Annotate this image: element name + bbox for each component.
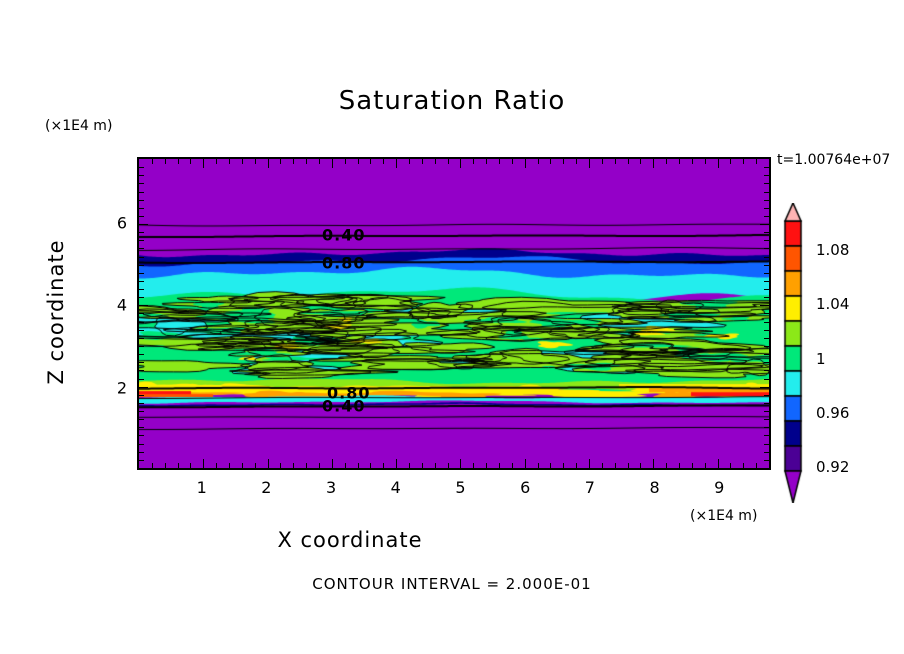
tick-mark: [139, 273, 144, 274]
tick-mark: [139, 322, 144, 323]
tick-mark: [190, 159, 191, 164]
tick-mark: [769, 463, 770, 468]
tick-mark: [764, 273, 769, 274]
x-tick-label: 3: [326, 478, 336, 497]
y-tick-label: 6: [101, 213, 127, 232]
tick-mark: [764, 208, 769, 209]
y-axis-title: Z coordinate: [44, 232, 68, 392]
tick-mark: [764, 354, 769, 355]
tick-mark: [203, 159, 204, 168]
tick-mark: [764, 411, 769, 412]
tick-mark: [448, 159, 449, 164]
tick-mark: [396, 459, 397, 468]
tick-mark: [760, 387, 769, 388]
tick-mark: [512, 463, 513, 468]
tick-mark: [139, 297, 144, 298]
tick-mark: [640, 159, 641, 164]
tick-mark: [139, 379, 144, 380]
tick-mark: [764, 338, 769, 339]
tick-mark: [152, 463, 153, 468]
tick-mark: [255, 463, 256, 468]
tick-mark: [764, 289, 769, 290]
x-tick-label: 8: [649, 478, 659, 497]
tick-mark: [139, 192, 144, 193]
tick-mark: [764, 427, 769, 428]
tick-mark: [152, 159, 153, 164]
tick-mark: [216, 159, 217, 164]
tick-mark: [255, 159, 256, 164]
tick-mark: [370, 463, 371, 468]
tick-mark: [769, 159, 770, 164]
colorbar-tick-label: 1.04: [816, 295, 849, 313]
colorbar-tick-label: 0.92: [816, 458, 849, 476]
tick-mark: [422, 159, 423, 164]
tick-mark: [319, 463, 320, 468]
colorbar-tick-label: 1: [816, 350, 826, 368]
tick-mark: [460, 159, 461, 168]
figure-canvas: Saturation Ratio (×1E4 m) t=1.00764e+07 …: [0, 0, 904, 654]
tick-mark: [764, 452, 769, 453]
tick-mark: [538, 463, 539, 468]
tick-mark: [370, 159, 371, 164]
tick-mark: [602, 463, 603, 468]
tick-mark: [486, 463, 487, 468]
tick-mark: [409, 463, 410, 468]
tick-mark: [139, 216, 144, 217]
tick-mark: [764, 183, 769, 184]
colorbar: [783, 203, 803, 503]
colorbar-tick-label: 0.96: [816, 404, 849, 422]
tick-mark: [139, 313, 144, 314]
tick-mark: [139, 338, 144, 339]
tick-mark: [473, 463, 474, 468]
tick-mark: [679, 463, 680, 468]
tick-mark: [139, 183, 144, 184]
tick-mark: [730, 159, 731, 164]
tick-mark: [319, 159, 320, 164]
tick-mark: [139, 403, 144, 404]
tick-mark: [764, 297, 769, 298]
contour-field: [139, 159, 769, 468]
tick-mark: [139, 362, 144, 363]
x-tick-label: 7: [585, 478, 595, 497]
tick-mark: [139, 232, 144, 233]
tick-mark: [332, 459, 333, 468]
tick-mark: [345, 159, 346, 164]
tick-mark: [764, 370, 769, 371]
tick-mark: [448, 463, 449, 468]
tick-mark: [139, 305, 148, 306]
x-tick-label: 9: [714, 478, 724, 497]
tick-mark: [576, 463, 577, 468]
tick-mark: [743, 463, 744, 468]
tick-mark: [705, 159, 706, 164]
tick-mark: [139, 281, 144, 282]
tick-mark: [139, 419, 144, 420]
tick-mark: [525, 459, 526, 468]
x-tick-label: 5: [455, 478, 465, 497]
tick-mark: [628, 159, 629, 164]
tick-mark: [473, 159, 474, 164]
tick-mark: [293, 463, 294, 468]
tick-mark: [229, 463, 230, 468]
page-title: Saturation Ratio: [0, 86, 904, 116]
tick-mark: [332, 159, 333, 168]
x-tick-label: 4: [391, 478, 401, 497]
tick-mark: [139, 387, 148, 388]
x-tick-label: 1: [197, 478, 207, 497]
tick-mark: [435, 463, 436, 468]
tick-mark: [139, 346, 144, 347]
tick-mark: [764, 248, 769, 249]
tick-mark: [764, 257, 769, 258]
tick-mark: [764, 240, 769, 241]
tick-mark: [764, 346, 769, 347]
tick-mark: [550, 159, 551, 164]
tick-mark: [293, 159, 294, 164]
tick-mark: [628, 463, 629, 468]
tick-mark: [345, 463, 346, 468]
tick-mark: [165, 463, 166, 468]
tick-mark: [486, 159, 487, 164]
tick-mark: [589, 159, 590, 168]
tick-mark: [178, 463, 179, 468]
tick-mark: [764, 200, 769, 201]
tick-mark: [764, 379, 769, 380]
tick-mark: [692, 463, 693, 468]
tick-mark: [139, 257, 144, 258]
tick-mark: [383, 463, 384, 468]
tick-mark: [764, 403, 769, 404]
tick-mark: [615, 463, 616, 468]
tick-mark: [216, 463, 217, 468]
tick-mark: [666, 463, 667, 468]
tick-mark: [190, 463, 191, 468]
tick-mark: [764, 175, 769, 176]
tick-mark: [139, 265, 144, 266]
tick-mark: [139, 370, 144, 371]
y-axis-unit-label: (×1E4 m): [45, 118, 112, 134]
tick-mark: [743, 159, 744, 164]
tick-mark: [512, 159, 513, 164]
tick-mark: [383, 159, 384, 164]
x-axis-unit-label: (×1E4 m): [690, 508, 757, 524]
contour-plot-area: 0.400.800.800.40: [137, 157, 771, 470]
tick-mark: [764, 281, 769, 282]
tick-mark: [653, 459, 654, 468]
tick-mark: [653, 159, 654, 168]
tick-mark: [692, 159, 693, 164]
tick-mark: [602, 159, 603, 164]
contour-interval-caption: CONTOUR INTERVAL = 2.000E-01: [0, 575, 904, 593]
tick-mark: [760, 305, 769, 306]
tick-mark: [764, 444, 769, 445]
tick-mark: [165, 159, 166, 164]
tick-mark: [139, 175, 144, 176]
tick-mark: [615, 159, 616, 164]
tick-mark: [422, 463, 423, 468]
tick-mark: [666, 159, 667, 164]
contour-level-label: 0.80: [322, 253, 365, 272]
tick-mark: [764, 395, 769, 396]
tick-mark: [396, 159, 397, 168]
tick-mark: [764, 313, 769, 314]
contour-level-label: 0.40: [322, 397, 365, 416]
tick-mark: [306, 159, 307, 164]
y-tick-label: 2: [101, 378, 127, 397]
tick-mark: [538, 159, 539, 164]
tick-mark: [409, 159, 410, 164]
tick-mark: [139, 330, 144, 331]
tick-mark: [139, 444, 144, 445]
tick-mark: [242, 463, 243, 468]
tick-mark: [764, 265, 769, 266]
tick-mark: [139, 167, 144, 168]
tick-mark: [764, 362, 769, 363]
tick-mark: [358, 159, 359, 164]
tick-mark: [764, 330, 769, 331]
timestamp-label: t=1.00764e+07: [777, 152, 890, 168]
tick-mark: [764, 167, 769, 168]
contour-level-label: 0.40: [322, 225, 365, 244]
tick-mark: [139, 427, 144, 428]
tick-mark: [280, 463, 281, 468]
tick-mark: [679, 159, 680, 164]
tick-mark: [760, 224, 769, 225]
tick-mark: [268, 159, 269, 168]
tick-mark: [280, 159, 281, 164]
tick-mark: [139, 411, 144, 412]
y-tick-label: 4: [101, 296, 127, 315]
tick-mark: [499, 463, 500, 468]
tick-mark: [764, 232, 769, 233]
tick-mark: [139, 435, 144, 436]
tick-mark: [640, 463, 641, 468]
tick-mark: [242, 159, 243, 164]
tick-mark: [764, 322, 769, 323]
tick-mark: [576, 159, 577, 164]
tick-mark: [460, 459, 461, 468]
tick-mark: [718, 159, 719, 168]
tick-mark: [764, 192, 769, 193]
colorbar-tick-label: 1.08: [816, 241, 849, 259]
tick-mark: [139, 289, 144, 290]
tick-mark: [525, 159, 526, 168]
tick-mark: [499, 159, 500, 164]
tick-mark: [563, 159, 564, 164]
tick-mark: [139, 208, 144, 209]
tick-mark: [178, 159, 179, 164]
tick-mark: [139, 240, 144, 241]
tick-mark: [550, 463, 551, 468]
tick-mark: [756, 463, 757, 468]
tick-mark: [435, 159, 436, 164]
tick-mark: [718, 459, 719, 468]
tick-mark: [229, 159, 230, 164]
tick-mark: [764, 216, 769, 217]
tick-mark: [139, 395, 144, 396]
tick-mark: [705, 463, 706, 468]
tick-mark: [764, 419, 769, 420]
tick-mark: [358, 463, 359, 468]
tick-mark: [730, 463, 731, 468]
tick-mark: [268, 459, 269, 468]
tick-mark: [139, 452, 144, 453]
x-axis-title: X coordinate: [0, 528, 700, 552]
tick-mark: [139, 460, 144, 461]
x-tick-label: 6: [520, 478, 530, 497]
tick-mark: [756, 159, 757, 164]
tick-mark: [764, 460, 769, 461]
tick-mark: [139, 200, 144, 201]
tick-mark: [306, 463, 307, 468]
tick-mark: [563, 463, 564, 468]
tick-mark: [139, 354, 144, 355]
tick-mark: [139, 224, 148, 225]
tick-mark: [764, 435, 769, 436]
x-tick-label: 2: [261, 478, 271, 497]
tick-mark: [139, 248, 144, 249]
tick-mark: [589, 459, 590, 468]
tick-mark: [203, 459, 204, 468]
